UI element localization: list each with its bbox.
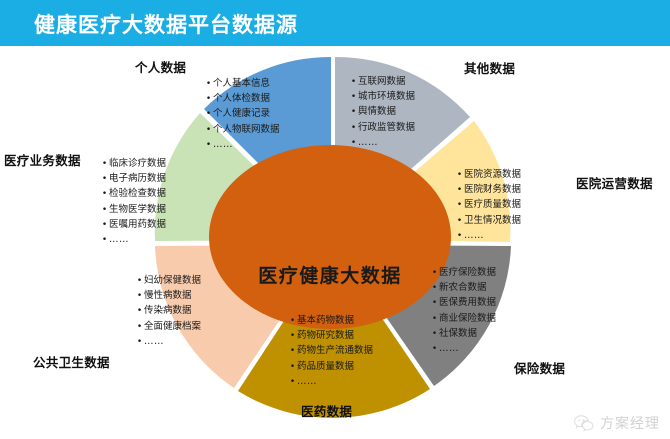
bullet-icon: • — [349, 75, 358, 89]
list-item: •医嘱用药数据 — [100, 217, 166, 232]
bullet-icon: • — [455, 183, 464, 197]
bullet-icon: • — [135, 274, 144, 288]
list-item: •药物研究数据 — [288, 328, 373, 343]
list-item: •妇幼保健数据 — [135, 273, 201, 288]
bullet-icon: • — [349, 136, 358, 150]
bullet-icon: • — [100, 218, 109, 232]
bullet-icon: • — [430, 327, 439, 341]
list-item: •个人物联网数据 — [204, 122, 280, 137]
bullet-icon: • — [100, 203, 109, 217]
segment-title-insurance: 保险数据 — [514, 358, 565, 377]
list-item: •…… — [100, 232, 166, 247]
watermark: 方案经理 — [573, 413, 660, 433]
bullet-icon: • — [288, 360, 297, 374]
bullet-icon: • — [100, 187, 109, 201]
bullet-icon: • — [349, 105, 358, 119]
center-label: 医疗健康大数据 — [215, 261, 445, 288]
bullet-icon: • — [288, 375, 297, 389]
list-item: •医院财务数据 — [455, 182, 521, 197]
bullet-icon: • — [100, 157, 109, 171]
bullet-icon: • — [430, 296, 439, 310]
list-item: •医保费用数据 — [430, 295, 496, 310]
segment-title-other: 其他数据 — [464, 58, 515, 77]
list-item: •全面健康档案 — [135, 319, 201, 334]
segment-list-medical-business: •临床诊疗数据 •电子病历数据 •检验检查数据 •生物医学数据 •医嘱用药数据 … — [100, 156, 166, 247]
list-item: •社保数据 — [430, 326, 496, 341]
bullet-icon: • — [455, 198, 464, 212]
list-item: •商业保险数据 — [430, 311, 496, 326]
bullet-icon: • — [288, 344, 297, 358]
bullet-icon: • — [288, 329, 297, 343]
list-item: •药品质量数据 — [288, 359, 373, 374]
segment-list-pharma: •基本药物数据 •药物研究数据 •药物生产流通数据 •药品质量数据 •…… — [288, 313, 373, 389]
segment-list-other: •互联网数据 •城市环境数据 •舆情数据 •行政监管数据 •…… — [349, 74, 415, 150]
segment-list-hospital-ops: •医院资源数据 •医院财务数据 •医疗质量数据 •卫生情况数据 •…… — [455, 167, 521, 243]
list-item: •检验检查数据 — [100, 186, 166, 201]
list-item: •…… — [455, 228, 521, 243]
bullet-icon: • — [135, 335, 144, 349]
bullet-icon: • — [204, 123, 213, 137]
segment-title-hospital-ops: 医院运营数据 — [576, 173, 653, 192]
list-item: •…… — [135, 334, 201, 349]
list-item: •医疗质量数据 — [455, 197, 521, 212]
bullet-icon: • — [100, 233, 109, 247]
data-source-wheel: 个人数据 •个人基本信息 •个人体检数据 •个人健康记录 •个人物联网数据 •…… — [0, 46, 670, 439]
list-item: •电子病历数据 — [100, 171, 166, 186]
list-item: •行政监管数据 — [349, 120, 415, 135]
list-item: •传染病数据 — [135, 303, 201, 318]
segment-title-personal: 个人数据 — [135, 57, 186, 76]
bullet-icon: • — [455, 168, 464, 182]
wechat-icon — [573, 414, 595, 432]
list-item: •药物生产流通数据 — [288, 343, 373, 358]
bullet-icon: • — [430, 312, 439, 326]
bullet-icon: • — [100, 172, 109, 186]
bullet-icon: • — [135, 289, 144, 303]
list-item: •基本药物数据 — [288, 313, 373, 328]
list-item: •生物医学数据 — [100, 202, 166, 217]
list-item: •卫生情况数据 — [455, 213, 521, 228]
segment-list-personal: •个人基本信息 •个人体检数据 •个人健康记录 •个人物联网数据 •…… — [204, 76, 280, 152]
list-item: •舆情数据 — [349, 104, 415, 119]
bullet-icon: • — [135, 320, 144, 334]
list-item: •个人体检数据 — [204, 91, 280, 106]
list-item: •城市环境数据 — [349, 89, 415, 104]
list-item: •个人基本信息 — [204, 76, 280, 91]
bullet-icon: • — [204, 77, 213, 91]
bullet-icon: • — [349, 121, 358, 135]
bullet-icon: • — [204, 107, 213, 121]
list-item: •个人健康记录 — [204, 106, 280, 121]
bullet-icon: • — [135, 304, 144, 318]
list-item: •互联网数据 — [349, 74, 415, 89]
list-item: •…… — [288, 374, 373, 389]
bullet-icon: • — [349, 90, 358, 104]
bullet-icon: • — [288, 314, 297, 328]
title-bar: 健康医疗大数据平台数据源 — [0, 0, 670, 46]
segment-title-medical-business: 医疗业务数据 — [4, 150, 81, 169]
list-item: •慢性病数据 — [135, 288, 201, 303]
list-item: •…… — [204, 137, 280, 152]
page-title: 健康医疗大数据平台数据源 — [34, 9, 298, 39]
bullet-icon: • — [204, 92, 213, 106]
list-item: •临床诊疗数据 — [100, 156, 166, 171]
watermark-text: 方案经理 — [600, 413, 660, 433]
segment-title-pharma: 医药数据 — [301, 401, 352, 420]
bullet-icon: • — [455, 229, 464, 243]
list-item: •…… — [349, 135, 415, 150]
segment-title-public-health: 公共卫生数据 — [33, 352, 110, 371]
segment-list-public-health: •妇幼保健数据 •慢性病数据 •传染病数据 •全面健康档案 •…… — [135, 273, 201, 349]
center-ellipse — [209, 145, 451, 329]
list-item: •…… — [430, 341, 496, 356]
bullet-icon: • — [430, 342, 439, 356]
bullet-icon: • — [455, 214, 464, 228]
list-item: •医院资源数据 — [455, 167, 521, 182]
bullet-icon: • — [204, 138, 213, 152]
